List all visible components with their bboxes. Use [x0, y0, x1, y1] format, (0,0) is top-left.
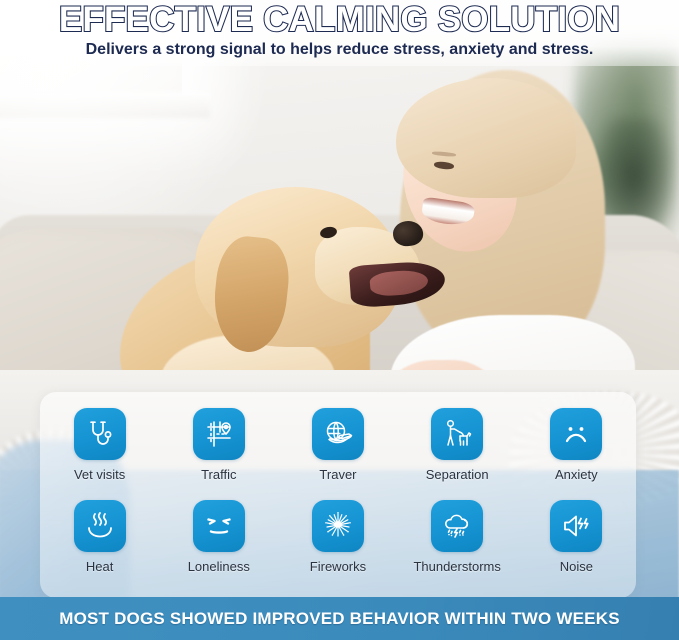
heat-waves-icon: [74, 500, 126, 552]
person-walking-dog-icon: [431, 408, 483, 460]
benefit-label: Vet visits: [74, 467, 125, 482]
header-block: EFFECTIVE CALMING SOLUTION Delivers a st…: [0, 0, 679, 66]
benefit-label: Traver: [319, 467, 356, 482]
icon-row-1: Vet visits Traffic: [40, 408, 636, 482]
globe-airplane-icon: [312, 408, 364, 460]
benefit-label: Noise: [560, 559, 593, 574]
benefit-item-traffic[interactable]: Traffic: [165, 408, 273, 482]
benefit-item-thunderstorms[interactable]: Thunderstorms: [403, 500, 511, 574]
stethoscope-icon: [74, 408, 126, 460]
benefit-item-anxiety[interactable]: Anxiety: [522, 408, 630, 482]
benefit-item-loneliness[interactable]: Loneliness: [165, 500, 273, 574]
benefits-panel: Vet visits Traffic: [40, 392, 636, 598]
page-subtitle: Delivers a strong signal to helps reduce…: [0, 40, 679, 60]
icon-row-2: Heat Loneliness: [40, 500, 636, 574]
benefit-label: Thunderstorms: [413, 559, 500, 574]
speaker-noise-icon: [550, 500, 602, 552]
benefit-item-noise[interactable]: Noise: [522, 500, 630, 574]
product-marketing-poster: EFFECTIVE CALMING SOLUTION Delivers a st…: [0, 0, 679, 640]
benefit-label: Heat: [86, 559, 113, 574]
traffic-map-pin-icon: [193, 408, 245, 460]
page-title: EFFECTIVE CALMING SOLUTION: [0, 2, 679, 38]
bottom-banner: MOST DOGS SHOWED IMPROVED BEHAVIOR WITHI…: [0, 597, 679, 640]
fireworks-icon: [312, 500, 364, 552]
benefit-item-traver[interactable]: Traver: [284, 408, 392, 482]
tired-face-icon: [193, 500, 245, 552]
benefit-label: Separation: [426, 467, 489, 482]
banner-text: MOST DOGS SHOWED IMPROVED BEHAVIOR WITHI…: [59, 609, 620, 629]
storm-cloud-lightning-icon: [431, 500, 483, 552]
benefit-item-heat[interactable]: Heat: [46, 500, 154, 574]
benefit-label: Loneliness: [188, 559, 250, 574]
benefit-label: Anxiety: [555, 467, 598, 482]
sad-face-icon: [550, 408, 602, 460]
benefit-item-fireworks[interactable]: Fireworks: [284, 500, 392, 574]
benefit-item-vet-visits[interactable]: Vet visits: [46, 408, 154, 482]
benefit-label: Traffic: [201, 467, 236, 482]
benefit-label: Fireworks: [310, 559, 366, 574]
benefit-item-separation[interactable]: Separation: [403, 408, 511, 482]
